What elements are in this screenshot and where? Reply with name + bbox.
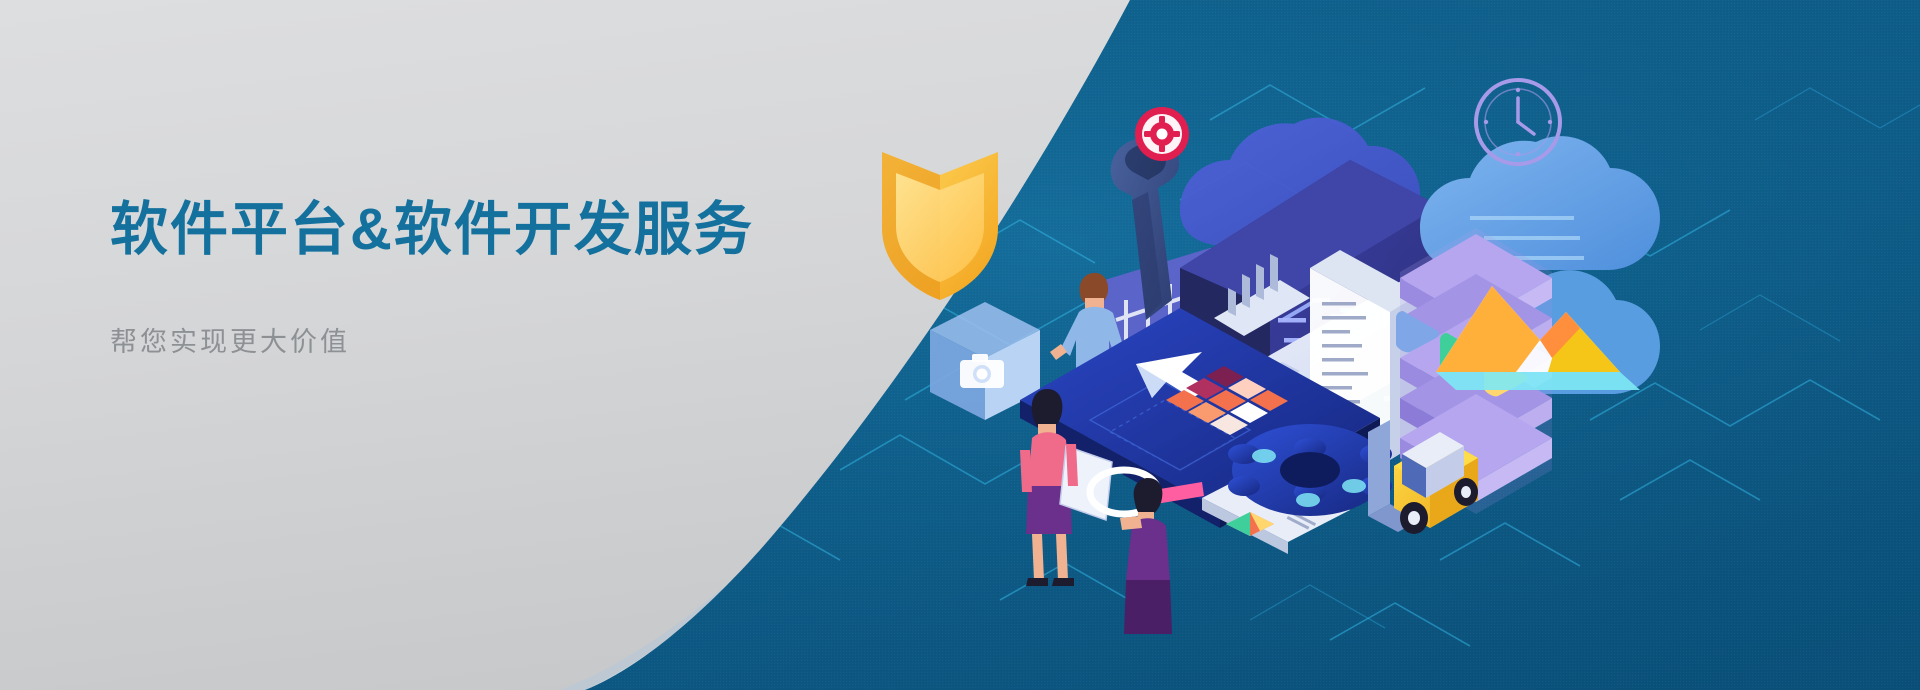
isometric-illustration <box>880 0 1920 690</box>
gear-badge-icon <box>1135 107 1189 161</box>
page-title: 软件平台&软件开发服务 <box>110 196 750 264</box>
page-subtitle: 帮您实现更大价值 <box>110 320 750 359</box>
banner-copy: 软件平台&软件开发服务 帮您实现更大价值 <box>110 196 750 359</box>
hero-banner: 软件平台&软件开发服务 帮您实现更大价值 <box>0 0 1920 690</box>
shield-icon <box>882 152 998 300</box>
